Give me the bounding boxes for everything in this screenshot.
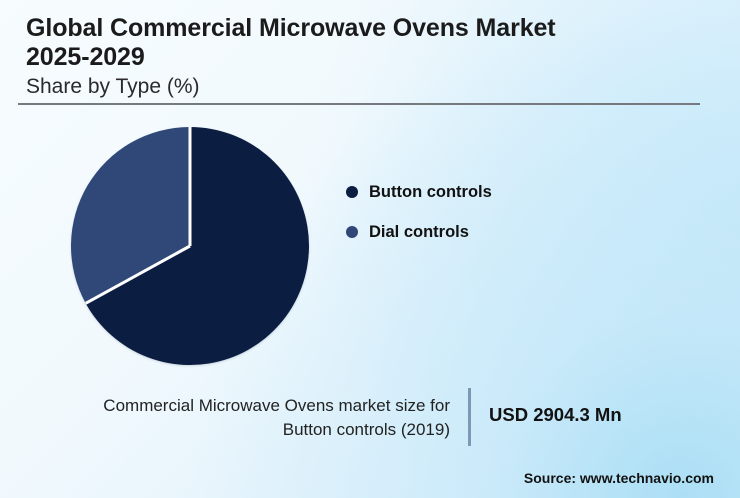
stat-caption-line2: Button controls (2019) [283, 420, 450, 439]
footer-stat: Commercial Microwave Ovens market size f… [0, 386, 740, 448]
stat-divider [468, 388, 471, 446]
legend-item-label: Button controls [369, 183, 492, 202]
legend-item-button-controls[interactable]: Button controls [346, 172, 492, 212]
page-title-line1: Global Commercial Microwave Ovens Market [26, 14, 696, 43]
circle-bullet-icon [346, 226, 358, 238]
pie-chart [71, 127, 309, 365]
stat-caption: Commercial Microwave Ovens market size f… [0, 394, 450, 442]
circle-bullet-icon [346, 186, 358, 198]
source-label: Source: www.technavio.com [524, 470, 714, 486]
stat-caption-line1: Commercial Microwave Ovens market size f… [103, 396, 450, 415]
legend-item-label: Dial controls [369, 223, 469, 242]
legend-item-dial-controls[interactable]: Dial controls [346, 212, 492, 252]
stat-value: USD 2904.3 Mn [489, 404, 622, 426]
page-title-line2: 2025-2029 [26, 43, 696, 72]
infographic-card: Global Commercial Microwave Ovens Market… [0, 0, 740, 498]
pie-chart-svg [71, 127, 309, 365]
page-subtitle: Share by Type (%) [26, 73, 696, 100]
header: Global Commercial Microwave Ovens Market… [26, 14, 696, 100]
chart-legend: Button controls Dial controls [346, 172, 492, 252]
header-divider [18, 103, 700, 105]
